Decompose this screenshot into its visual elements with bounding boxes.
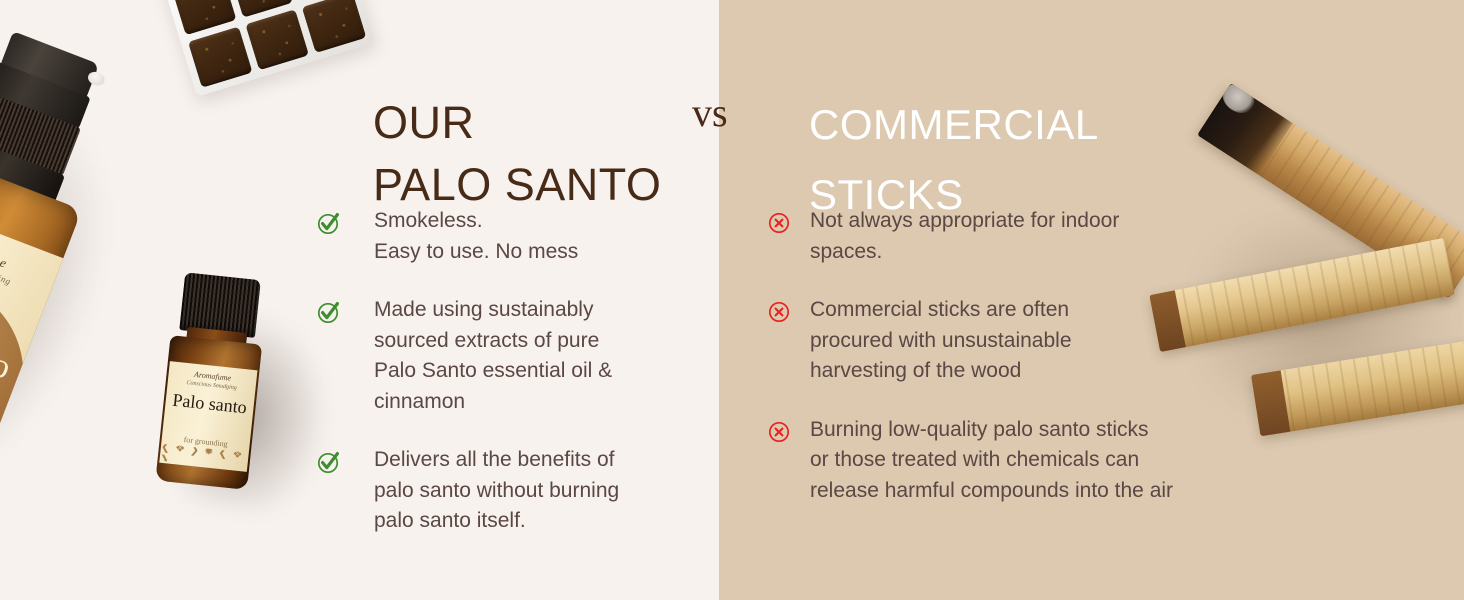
comparison-infographic: Aromafume Conscious Smudging Palo santo … <box>0 0 1464 600</box>
list-item: Delivers all the benefits of palo santo … <box>316 445 686 537</box>
green-check-circle-icon <box>316 299 342 325</box>
list-item-text: Made using sustainably sourced extracts … <box>374 295 612 417</box>
list-item-text: Commercial sticks are often procured wit… <box>810 295 1072 387</box>
left-panel-heading: OUR PALO SANTO <box>373 92 661 216</box>
red-cross-circle-icon <box>766 210 792 236</box>
red-cross-circle-icon <box>766 419 792 445</box>
list-item: Commercial sticks are often procured wit… <box>766 295 1256 387</box>
list-item: Smokeless. Easy to use. No mess <box>316 206 686 267</box>
list-item: Made using sustainably sourced extracts … <box>316 295 686 417</box>
list-item-text: Smokeless. Easy to use. No mess <box>374 206 578 267</box>
red-cross-circle-icon <box>766 299 792 325</box>
green-check-circle-icon <box>316 449 342 475</box>
list-item: Not always appropriate for indoor spaces… <box>766 206 1256 267</box>
list-item-text: Burning low-quality palo santo sticks or… <box>810 415 1173 507</box>
list-item-text: Delivers all the benefits of palo santo … <box>374 445 619 537</box>
list-item-text: Not always appropriate for indoor spaces… <box>810 206 1119 267</box>
drawbacks-list: Not always appropriate for indoor spaces… <box>766 206 1256 506</box>
left-heading-line-1: OUR <box>373 92 661 154</box>
vs-label: vs <box>692 90 728 136</box>
benefits-list: Smokeless. Easy to use. No mess Made usi… <box>316 206 686 537</box>
green-check-circle-icon <box>316 210 342 236</box>
right-heading-line-1: COMMERCIAL <box>809 90 1099 160</box>
list-item: Burning low-quality palo santo sticks or… <box>766 415 1256 507</box>
